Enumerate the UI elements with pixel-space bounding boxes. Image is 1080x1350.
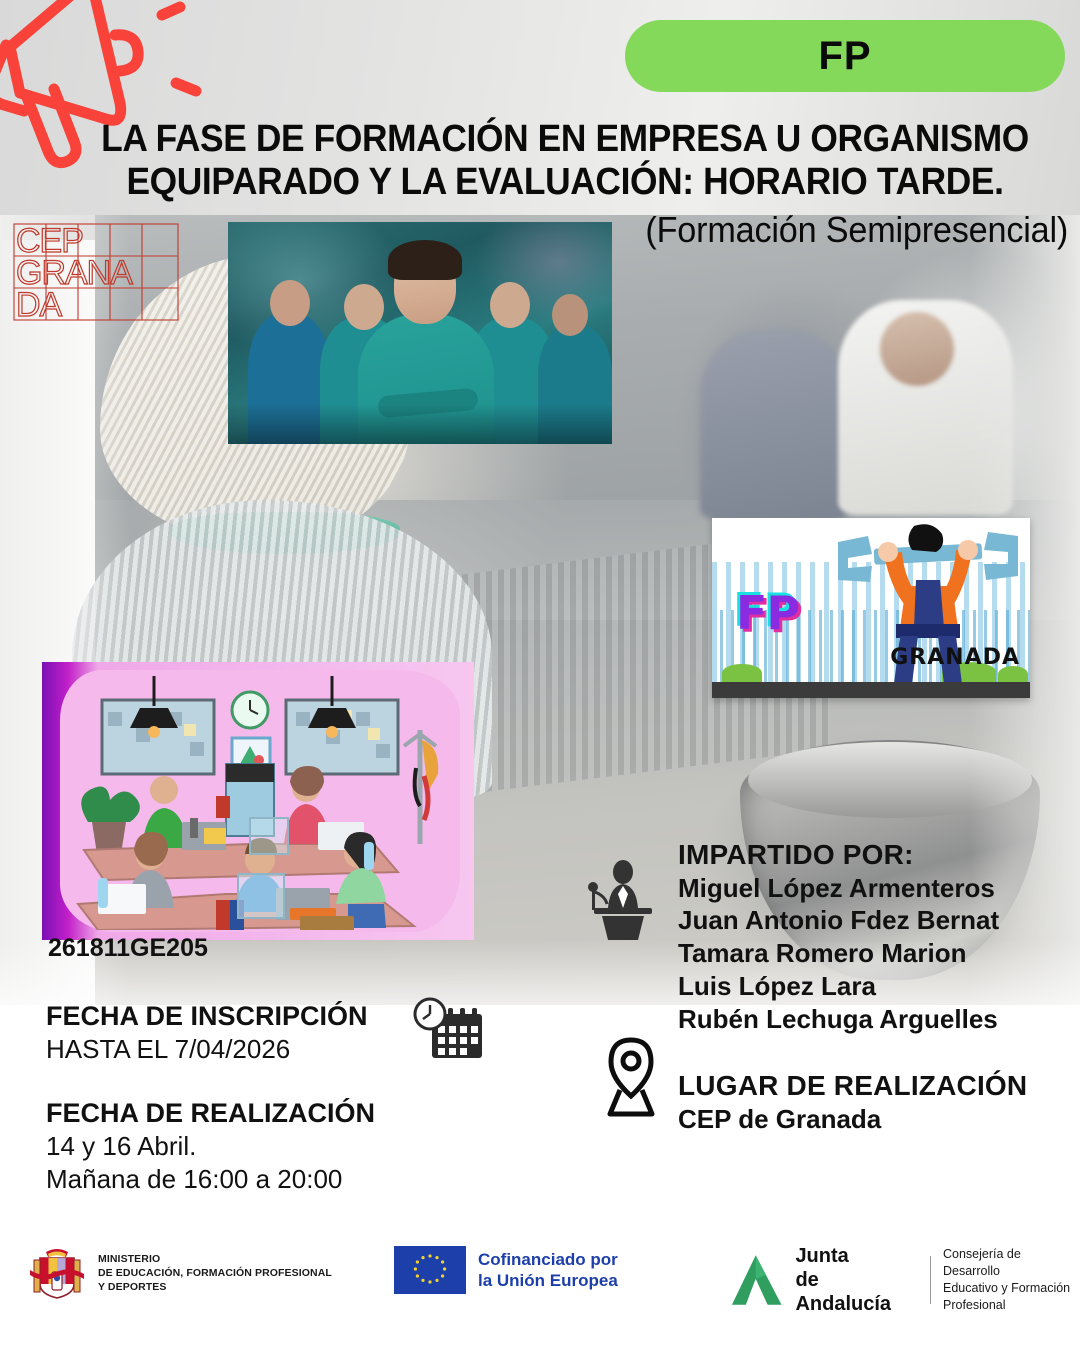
eu-logo-block: Cofinanciado por la Unión Europea: [394, 1246, 618, 1294]
fp-granada-card-base: [712, 682, 1030, 698]
footer-logos: MINISTERIO DE EDUCACIÓN, FORMACIÓN PROFE…: [0, 1238, 1080, 1338]
svg-text:DA: DA: [16, 286, 63, 322]
nurses-team-photo: [228, 222, 612, 444]
ministerio-line-2: DE EDUCACIÓN, FORMACIÓN PROFESIONAL: [98, 1266, 332, 1280]
podium-speaker-icon: [578, 858, 668, 942]
speakers-heading: IMPARTIDO POR:: [678, 838, 1078, 872]
spain-coat-of-arms-icon: [26, 1242, 88, 1304]
poster-root: FP LA FASE DE FORMACIÓN EN EMPRESA U ORG…: [0, 0, 1080, 1350]
junta-name-2: de Andalucía: [795, 1268, 918, 1316]
junta-andalucia-logo-block: Junta de Andalucía Consejería de Desarro…: [728, 1244, 1080, 1316]
title-line-1: LA FASE DE FORMACIÓN EN EMPRESA U ORGANI…: [95, 118, 1034, 161]
speaker-name: Juan Antonio Fdez Bernat: [678, 904, 1078, 937]
fp-granada-granada-label: GRANADA: [890, 645, 1020, 670]
speaker-name: Tamara Romero Marion: [678, 937, 1078, 970]
junta-andalucia-icon: [728, 1253, 787, 1307]
speaker-name: Miguel López Armenteros: [678, 872, 1078, 905]
speaker-name: Rubén Lechuga Arguelles: [678, 1003, 1078, 1036]
eu-line-2: la Unión Europea: [478, 1270, 618, 1291]
place-value: CEP de Granada: [678, 1103, 1078, 1136]
junta-dept-2: Educativo y Formación: [943, 1280, 1080, 1297]
location-pin-icon: [596, 1034, 666, 1118]
fp-granada-fp-label: FP: [736, 586, 799, 640]
realization-heading: FECHA DE REALIZACIÓN: [46, 1097, 466, 1130]
junta-dept-1: Consejería de Desarrollo: [943, 1246, 1080, 1280]
fp-granada-illustration-card: FP GRANADA: [712, 518, 1030, 698]
junta-name-1: Junta: [795, 1244, 918, 1268]
place-heading: LUGAR DE REALIZACIÓN: [678, 1069, 1078, 1103]
ministerio-line-3: Y DEPORTES: [98, 1280, 332, 1294]
realization-time: Mañana de 16:00 a 20:00: [46, 1163, 466, 1197]
eu-flag-icon: [394, 1246, 466, 1294]
course-code: 261811GE205: [48, 934, 208, 963]
right-info-block: IMPARTIDO POR: Miguel López Armenteros J…: [678, 838, 1078, 1136]
left-info-block: FECHA DE INSCRIPCIÓN HASTA EL 7/04/2026 …: [46, 1000, 466, 1197]
junta-divider: [930, 1256, 931, 1304]
inscription-value: HASTA EL 7/04/2026: [46, 1033, 466, 1067]
realization-dates: 14 y 16 Abril.: [46, 1130, 466, 1164]
background-worker-figure: [700, 330, 850, 520]
ministerio-logo-block: MINISTERIO DE EDUCACIÓN, FORMACIÓN PROFE…: [26, 1242, 332, 1304]
cep-granada-logo: CEP GRANA DA: [12, 222, 180, 322]
ministerio-line-1: MINISTERIO: [98, 1252, 332, 1266]
title-line-2: EQUIPARADO Y LA EVALUACIÓN: HORARIO TARD…: [95, 161, 1034, 204]
inscription-heading: FECHA DE INSCRIPCIÓN: [46, 1000, 466, 1033]
background-chef-head: [880, 312, 954, 386]
office-illustration-card: [42, 662, 474, 940]
eu-line-1: Cofinanciado por: [478, 1249, 618, 1270]
calendar-clock-icon: [408, 996, 486, 1062]
junta-dept-3: Profesional: [943, 1297, 1080, 1314]
fp-badge: FP: [625, 20, 1065, 92]
speaker-name: Luis López Lara: [678, 970, 1078, 1003]
fp-badge-label: FP: [818, 34, 871, 79]
